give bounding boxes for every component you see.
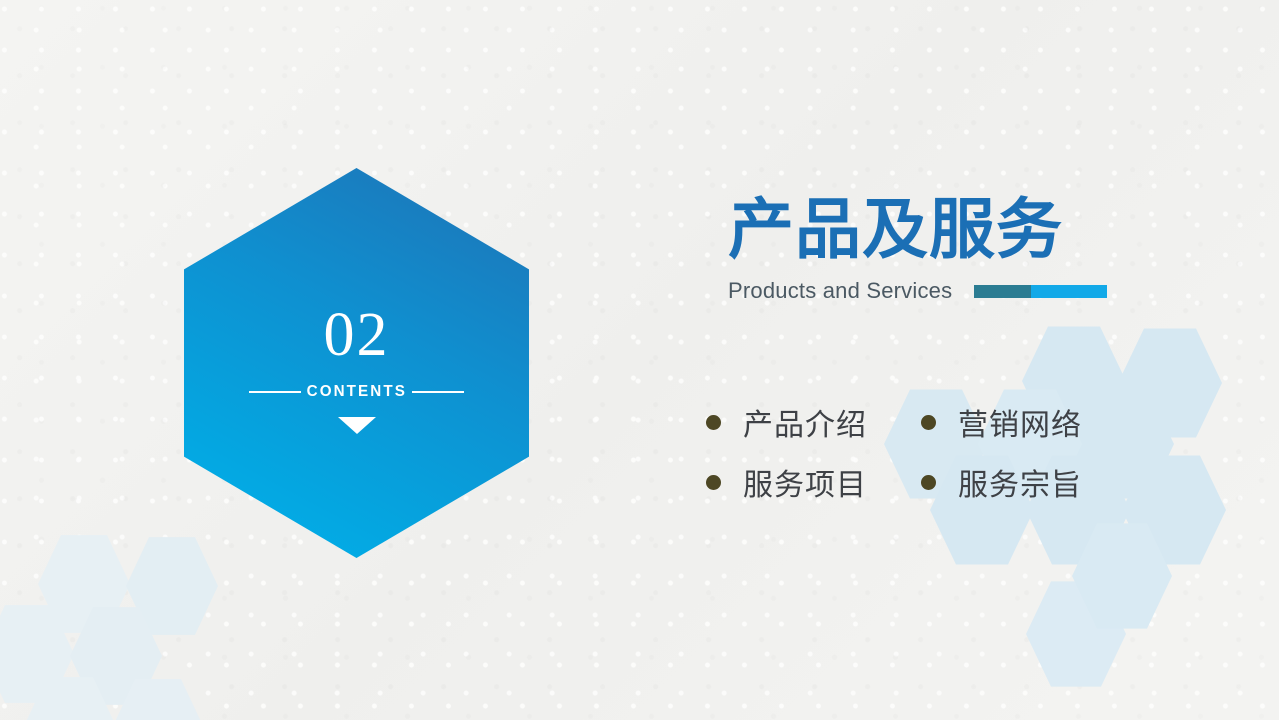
- list-item-label: 服务宗旨: [958, 460, 1082, 504]
- rule-right: [412, 391, 464, 393]
- list-item[interactable]: 营销网络: [921, 392, 1136, 452]
- contents-list: 产品介绍 营销网络 服务项目 服务宗旨: [706, 392, 1136, 512]
- decorative-hexagon-right: [1072, 520, 1172, 632]
- section-number-hexagon: 02 CONTENTS: [184, 168, 529, 558]
- section-number: 02: [324, 304, 390, 366]
- decorative-hexagon-left: [112, 676, 204, 720]
- bullet-dot-icon: [706, 415, 721, 430]
- list-item-label: 服务项目: [743, 460, 867, 504]
- contents-label: CONTENTS: [306, 383, 406, 401]
- list-item-label: 营销网络: [958, 400, 1082, 444]
- decorative-hexagon-left: [126, 534, 218, 638]
- rule-left: [249, 391, 301, 393]
- triangle-down-icon: [338, 417, 376, 434]
- list-item-label: 产品介绍: [743, 400, 867, 444]
- list-item[interactable]: 服务宗旨: [921, 452, 1136, 512]
- contents-label-row: CONTENTS: [184, 383, 529, 401]
- bullet-dot-icon: [921, 415, 936, 430]
- accent-bar-right: [1031, 285, 1107, 298]
- presentation-slide: 02 CONTENTS 产品及服务 Products and Services …: [0, 0, 1279, 720]
- list-item[interactable]: 服务项目: [706, 452, 921, 512]
- list-item[interactable]: 产品介绍: [706, 392, 921, 452]
- bullet-dot-icon: [921, 475, 936, 490]
- bullet-dot-icon: [706, 475, 721, 490]
- subtitle-row: Products and Services: [728, 278, 1148, 304]
- heading-block: 产品及服务 Products and Services: [728, 196, 1148, 304]
- accent-bar-left: [974, 285, 1031, 298]
- decorative-hexagon-left: [24, 674, 116, 720]
- decorative-hexagon-left: [38, 532, 130, 636]
- page-title: 产品及服务: [728, 196, 1148, 262]
- decorative-hexagon-left: [0, 602, 74, 706]
- decorative-hexagon-right: [1026, 578, 1126, 690]
- decorative-hexagon-right: [1122, 452, 1226, 568]
- accent-bar: [974, 285, 1107, 298]
- page-subtitle: Products and Services: [728, 278, 952, 304]
- decorative-hexagon-left: [70, 604, 162, 708]
